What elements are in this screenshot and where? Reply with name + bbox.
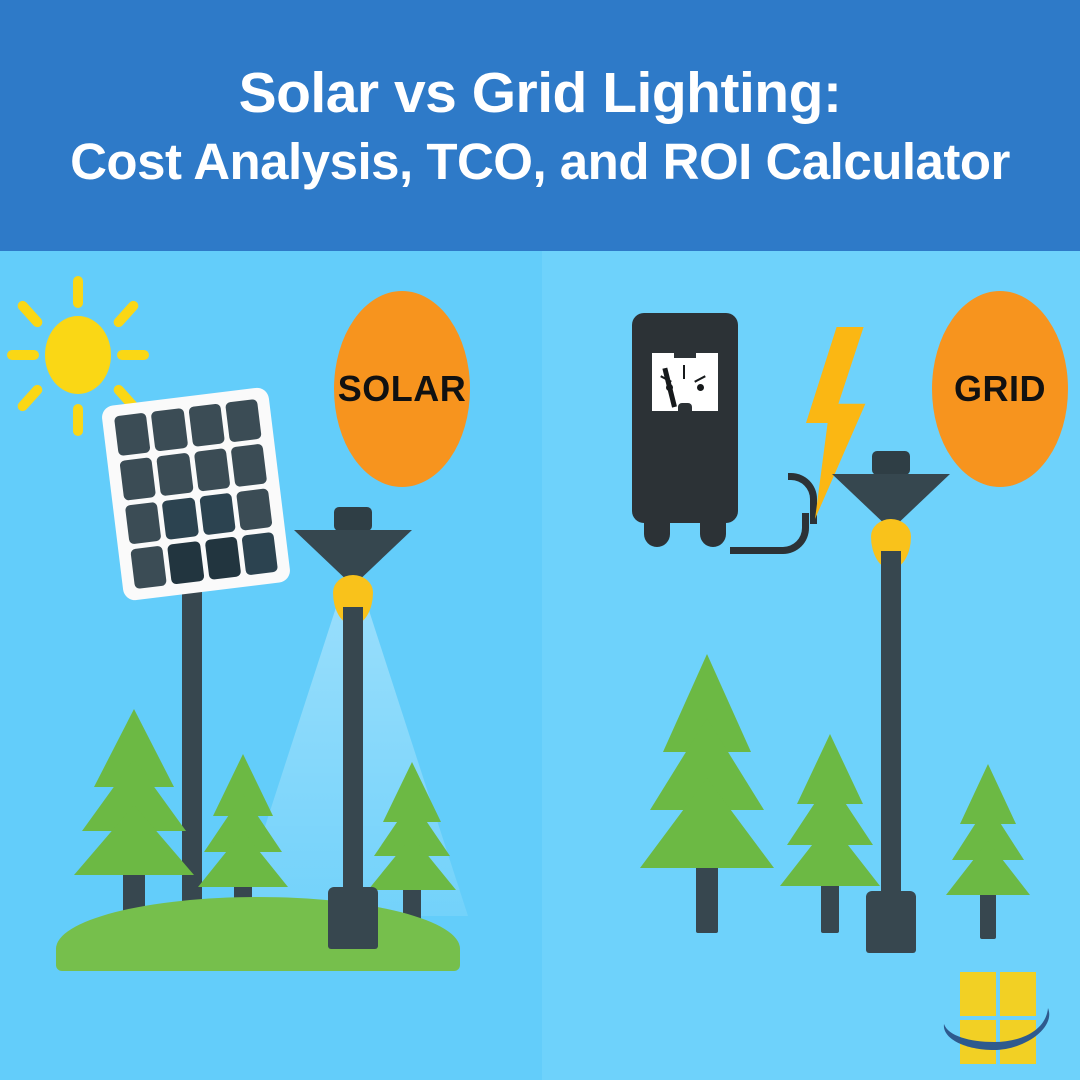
sun-ray: [16, 383, 45, 413]
meter-gauge: [652, 353, 718, 411]
status-badge-grid-label: GRID: [954, 368, 1046, 410]
solar-cell: [130, 546, 167, 589]
status-badge-solar-label: SOLAR: [338, 368, 467, 410]
page-title-line1: Solar vs Grid Lighting:: [239, 65, 842, 122]
solar-cell: [193, 448, 230, 491]
solar-cell: [119, 457, 156, 500]
solar-cell: [236, 488, 273, 531]
lamp-pole: [881, 551, 901, 901]
page-title-line2: Cost Analysis, TCO, and ROI Calculator: [70, 136, 1010, 187]
power-cable-hook: [788, 473, 817, 524]
logo-tile-topleft: [960, 972, 996, 1016]
solar-cell: [188, 403, 225, 446]
sun-ray: [73, 276, 83, 308]
tree-tier: [198, 828, 288, 887]
sun-ray: [73, 404, 83, 436]
lamp-base: [866, 891, 916, 953]
solar-cell: [114, 412, 151, 455]
sun-disc: [45, 316, 111, 394]
solar-cell: [151, 408, 188, 451]
gauge-needle-right: [694, 375, 706, 382]
tree-tier: [946, 838, 1030, 895]
solar-cell: [199, 492, 236, 535]
gauge-notch-top: [674, 353, 696, 358]
lamp-cap: [872, 451, 910, 475]
gauge-main-needle: [662, 368, 677, 408]
sun-ray: [16, 299, 45, 329]
illustration-scene: SOLAR: [0, 251, 1080, 1080]
meter-leg: [644, 515, 670, 547]
tree-trunk: [980, 891, 996, 939]
solar-cell: [241, 532, 278, 575]
header-banner: Solar vs Grid Lighting: Cost Analysis, T…: [0, 0, 1080, 251]
solar-cell: [156, 452, 193, 495]
gauge-notch-bottom: [678, 403, 692, 411]
poster-canvas: Solar vs Grid Lighting: Cost Analysis, T…: [0, 0, 1080, 1080]
lamp-cap: [334, 507, 372, 531]
gauge-dial-right: [697, 384, 704, 391]
solar-cell: [162, 497, 199, 540]
gauge-needle-center: [683, 365, 685, 379]
meter-leg: [700, 515, 726, 547]
sun-ray: [117, 350, 149, 360]
logo-tile-topright: [1000, 972, 1036, 1016]
pine-tree-icon: [946, 761, 1030, 933]
lamp-base: [328, 887, 378, 949]
solar-cell: [125, 501, 162, 544]
status-badge-grid: GRID: [932, 291, 1068, 487]
sun-ray: [7, 350, 39, 360]
street-lamp-icon: [826, 451, 956, 951]
tree-tier: [74, 802, 194, 875]
sun-ray: [112, 299, 141, 329]
status-badge-solar: SOLAR: [334, 291, 470, 487]
tree-trunk: [696, 863, 718, 933]
solar-cell: [225, 399, 262, 442]
meter-body: [632, 313, 738, 523]
solar-cell: [167, 541, 204, 584]
pine-tree-icon: [74, 706, 194, 931]
grid-scene-panel: GRID: [542, 251, 1080, 1080]
solar-panel-frame: [101, 386, 292, 601]
pine-tree-icon: [640, 651, 774, 933]
solar-cell: [230, 443, 267, 486]
street-lamp-icon: [288, 507, 418, 947]
solar-panel-icon: [101, 386, 292, 601]
solar-scene-panel: SOLAR: [0, 251, 542, 1080]
lamp-pole: [343, 607, 363, 895]
brand-logo: [960, 972, 1044, 1064]
solar-cell: [204, 537, 241, 580]
tree-tier: [640, 775, 774, 868]
